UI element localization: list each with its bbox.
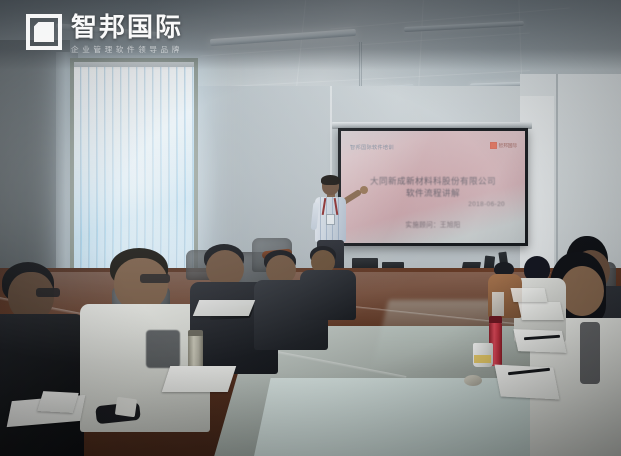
attendee-left-1 (0, 262, 84, 456)
notebook-paper (518, 302, 564, 320)
glasses-icon (36, 288, 60, 297)
glasses-icon (140, 274, 170, 283)
charger-brick (115, 397, 137, 418)
notebook-paper (162, 366, 236, 392)
thermos-lid (188, 330, 203, 336)
shirt-print (146, 330, 180, 368)
notebook-paper (511, 288, 548, 302)
presenter-badge (326, 214, 335, 225)
bag-strap (580, 322, 600, 384)
cup-label (474, 355, 491, 363)
presenter-hair (321, 175, 340, 185)
attendee-far-center (300, 246, 360, 316)
slide-glare (341, 131, 525, 243)
meeting-room-photo: 智邦国际软件培训 智邦国际 大同新成新材料科股份有限公司 软件流程讲解 2018… (0, 0, 621, 456)
thermos-lid (489, 316, 502, 323)
small-round-object (464, 375, 482, 386)
water-bottle (492, 292, 504, 316)
notebook-paper (193, 300, 255, 316)
notebook-paper (513, 329, 566, 353)
presenter-hand (360, 186, 368, 194)
notebook-paper (37, 391, 79, 413)
